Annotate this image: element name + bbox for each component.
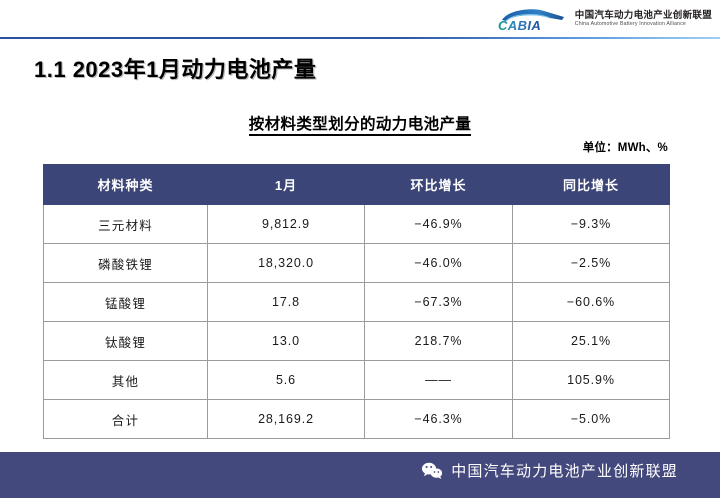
cell-material: 钛酸锂: [44, 322, 208, 361]
cell-january: 9,812.9: [208, 205, 365, 244]
cell-january: 18,320.0: [208, 244, 365, 283]
header-divider-rule: [0, 37, 720, 39]
unit-note: 单位：MWh、%: [583, 139, 668, 155]
footer-content: 中国汽车动力电池产业创新联盟: [421, 460, 678, 481]
cell-material: 三元材料: [44, 205, 208, 244]
production-table: 材料种类 1月 环比增长 同比增长 三元材料 9,812.9 −46.9% −9…: [43, 164, 670, 439]
cell-january: 28,169.2: [208, 400, 365, 439]
cell-material: 合计: [44, 400, 208, 439]
cell-mom: 218.7%: [365, 322, 513, 361]
table-row: 钛酸锂 13.0 218.7% 25.1%: [44, 322, 670, 361]
brand-name-block: 中国汽车动力电池产业创新联盟 China Automotive Battery …: [575, 11, 712, 28]
cell-mom: −46.9%: [365, 205, 513, 244]
cell-mom: −46.3%: [365, 400, 513, 439]
col-header-mom: 环比增长: [365, 165, 513, 205]
col-header-material: 材料种类: [44, 165, 208, 205]
table-row: 磷酸铁锂 18,320.0 −46.0% −2.5%: [44, 244, 670, 283]
brand-name-cn: 中国汽车动力电池产业创新联盟: [575, 11, 712, 21]
cell-yoy: −60.6%: [513, 283, 670, 322]
footer-bar: 中国汽车动力电池产业创新联盟: [0, 452, 720, 498]
col-header-january: 1月: [208, 165, 365, 205]
cell-yoy: 25.1%: [513, 322, 670, 361]
cell-january: 13.0: [208, 322, 365, 361]
cell-yoy: −2.5%: [513, 244, 670, 283]
production-table-wrapper: 材料种类 1月 环比增长 同比增长 三元材料 9,812.9 −46.9% −9…: [43, 164, 669, 439]
col-header-yoy: 同比增长: [513, 165, 670, 205]
table-row: 锰酸锂 17.8 −67.3% −60.6%: [44, 283, 670, 322]
cell-mom: −46.0%: [365, 244, 513, 283]
cell-mom: ——: [365, 361, 513, 400]
table-caption: 按材料类型划分的动力电池产量: [0, 112, 720, 134]
brand-name-en: China Automotive Battery Innovation Alli…: [575, 22, 712, 27]
table-row: 其他 5.6 —— 105.9%: [44, 361, 670, 400]
table-row: 合计 28,169.2 −46.3% −5.0%: [44, 400, 670, 439]
cell-yoy: 105.9%: [513, 361, 670, 400]
cabia-logo-mark: CABIA: [492, 6, 568, 32]
cell-yoy: −5.0%: [513, 400, 670, 439]
brand-logo: CABIA 中国汽车动力电池产业创新联盟 China Automotive Ba…: [492, 6, 712, 32]
cell-mom: −67.3%: [365, 283, 513, 322]
cell-january: 5.6: [208, 361, 365, 400]
cell-yoy: −9.3%: [513, 205, 670, 244]
cell-material: 其他: [44, 361, 208, 400]
svg-text:CABIA: CABIA: [498, 18, 541, 32]
cell-material: 锰酸锂: [44, 283, 208, 322]
table-row: 三元材料 9,812.9 −46.9% −9.3%: [44, 205, 670, 244]
cell-material: 磷酸铁锂: [44, 244, 208, 283]
wechat-icon: [421, 462, 443, 480]
cell-january: 17.8: [208, 283, 365, 322]
page-title: 1.1 2023年1月动力电池产量: [34, 52, 316, 84]
footer-label: 中国汽车动力电池产业创新联盟: [451, 460, 678, 481]
table-caption-text: 按材料类型划分的动力电池产量: [249, 116, 472, 136]
top-bar: CABIA 中国汽车动力电池产业创新联盟 China Automotive Ba…: [0, 0, 720, 38]
table-header-row: 材料种类 1月 环比增长 同比增长: [44, 165, 670, 205]
